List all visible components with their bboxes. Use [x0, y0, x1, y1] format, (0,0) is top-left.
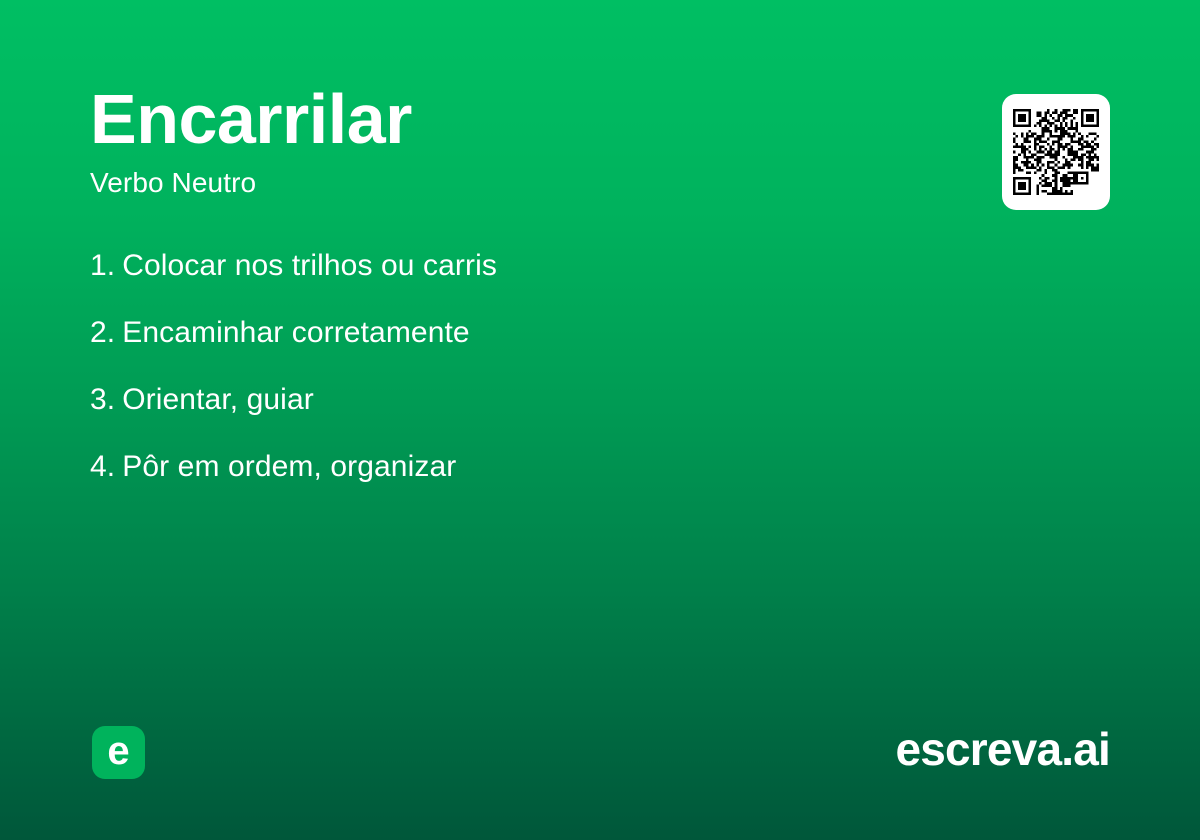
definition-index: 3. [90, 383, 115, 416]
list-item: 4.Pôr em ordem, organizar [90, 447, 970, 514]
qr-code-icon [1013, 109, 1099, 195]
list-item: 1.Colocar nos trilhos ou carris [90, 246, 970, 313]
word-class-label: Verbo Neutro [90, 168, 950, 199]
card-header: Encarrilar Verbo Neutro [90, 84, 950, 199]
definition-index: 2. [90, 316, 115, 349]
definition-text: Colocar nos trilhos ou carris [122, 249, 497, 282]
definition-text: Encaminhar corretamente [122, 316, 469, 349]
qr-code[interactable] [1002, 94, 1110, 210]
definition-list: 1.Colocar nos trilhos ou carris 2.Encami… [90, 246, 970, 514]
logo-letter: e [107, 731, 129, 771]
definition-index: 4. [90, 450, 115, 483]
page-title: Encarrilar [90, 84, 950, 154]
brand-wordmark[interactable]: escreva.ai [895, 722, 1110, 777]
definition-card: Encarrilar Verbo Neutro 1.Colocar nos tr… [0, 0, 1200, 840]
definition-index: 1. [90, 249, 115, 282]
list-item: 2.Encaminhar corretamente [90, 313, 970, 380]
list-item: 3.Orientar, guiar [90, 380, 970, 447]
definition-text: Orientar, guiar [122, 383, 314, 416]
escreva-logo-icon[interactable]: e [92, 726, 145, 779]
definition-text: Pôr em ordem, organizar [122, 450, 456, 483]
